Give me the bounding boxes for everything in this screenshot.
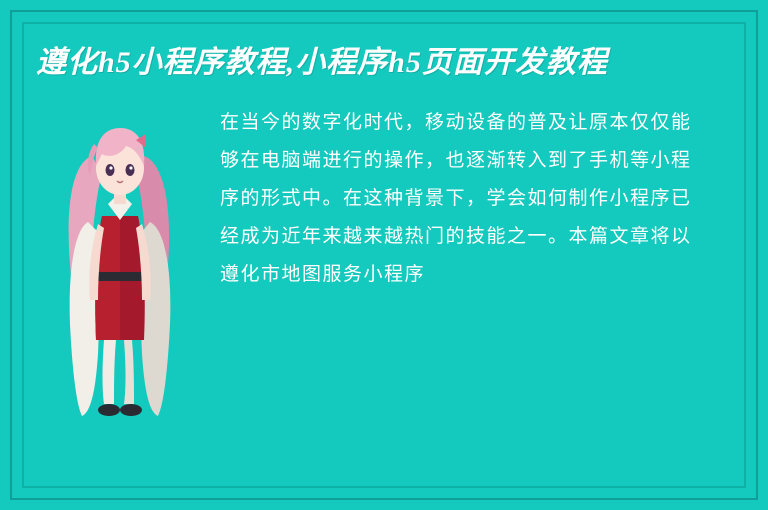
illustration-svg [40,104,200,424]
article-body: 在当今的数字化时代，移动设备的普及让原本仅仅能够在电脑端进行的操作，也逐渐转入到… [220,100,710,294]
anime-girl-illustration [40,104,200,424]
content-area: 遵化h5小程序教程,小程序h5页面开发教程 [36,40,732,474]
page-title: 遵化h5小程序教程,小程序h5页面开发教程 [36,40,726,86]
document-page: 遵化h5小程序教程,小程序h5页面开发教程 [0,0,768,510]
body-area: 在当今的数字化时代，移动设备的普及让原本仅仅能够在电脑端进行的操作，也逐渐转入到… [36,100,732,424]
